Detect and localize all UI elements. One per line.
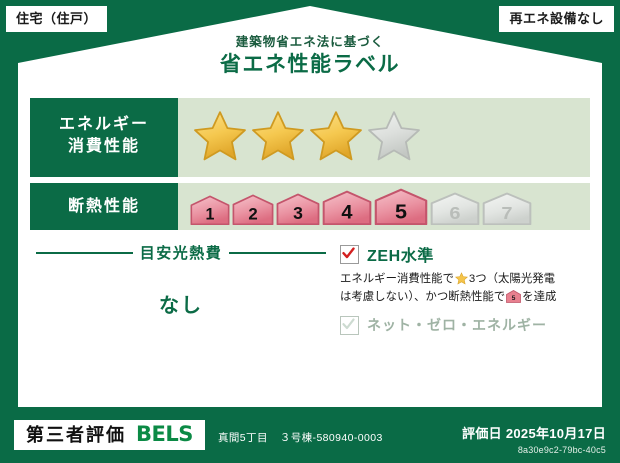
insulation-level-inactive: 6 [430, 192, 480, 225]
energy-label-line2: 消費性能 [68, 136, 140, 158]
bels-chip: 第三者評価 BELS [14, 420, 205, 450]
zeh-header: ZEH水準 [340, 242, 588, 266]
bels-logo: BELS [136, 424, 193, 445]
lower-section: 目安光熱費 なし ZEH水準 エ [30, 236, 590, 335]
star-rating [192, 109, 422, 163]
evaluation-hash: 8a30e9c2-79bc-40c5 [462, 445, 606, 455]
utility-cost-title: 目安光熱費 [140, 242, 223, 263]
energy-performance-value [178, 94, 590, 177]
zeh-desc-part2: 3つ（太陽光発電 [469, 273, 555, 285]
star-icon-filled [192, 109, 248, 163]
evaluation-date-value: 2025年10月17日 [506, 426, 606, 441]
insulation-performance-value: 1234567 [178, 183, 590, 230]
header-title: 省エネ性能ラベル [18, 52, 602, 78]
building-type-label: 住宅（住戸） [16, 11, 97, 26]
cost-rule-right [229, 252, 326, 254]
insulation-performance-label: 断熱性能 [30, 183, 178, 230]
third-party-label: 第三者評価 [26, 426, 126, 444]
svg-text:5: 5 [512, 295, 516, 302]
star-icon-inline [455, 272, 468, 285]
star-icon-filled [250, 109, 306, 163]
insulation-label-line1: 断熱性能 [68, 196, 140, 218]
insulation-level-number: 3 [293, 203, 303, 223]
utility-cost-header: 目安光熱費 [30, 242, 332, 263]
utility-cost-column: 目安光熱費 なし [30, 236, 332, 335]
check-icon-faded [342, 318, 355, 331]
insulation-level-active: 3 [276, 193, 320, 225]
insulation-performance-row: 断熱性能 1234567 [30, 183, 590, 230]
label-inner: エネルギー 消費性能 断熱性能 1234567 [30, 94, 590, 403]
cost-rule-left [36, 252, 133, 254]
insulation-level-number: 1 [206, 205, 215, 223]
energy-performance-label: エネルギー 消費性能 [30, 94, 178, 177]
evaluation-info: 評価日 2025年10月17日 8a30e9c2-79bc-40c5 [462, 423, 606, 455]
energy-performance-row: エネルギー 消費性能 [30, 94, 590, 177]
insulation-level-number: 4 [341, 202, 352, 223]
property-identifier: 真間5丁目３号棟-580940-0003 [218, 430, 383, 445]
property-address: 真間5丁目 [218, 432, 268, 444]
building-type-tag: 住宅（住戸） [6, 6, 107, 32]
star-icon-empty [366, 109, 422, 163]
insulation-level-inactive: 7 [482, 192, 532, 225]
energy-label-line1: エネルギー [59, 114, 149, 136]
check-icon [342, 247, 355, 260]
evaluation-date-label: 評価日 [462, 426, 502, 441]
label-house: エネルギー 消費性能 断熱性能 1234567 [18, 6, 602, 407]
property-building: ３号棟-580940-0003 [280, 432, 383, 444]
zeh-desc-part3: は考慮しない）、かつ断熱性能で [340, 291, 505, 303]
header-subtitle: 建築物省エネ法に基づく [18, 36, 602, 50]
net-zero-energy-checkbox[interactable] [340, 316, 359, 335]
net-zero-energy-label: ネット・ゼロ・エネルギー [367, 315, 547, 335]
footer-bar: 第三者評価 BELS 真間5丁目３号棟-580940-0003 評価日 2025… [0, 411, 620, 463]
insulation-level-scale: 1234567 [190, 188, 532, 225]
insulation-level-active: 5 [374, 188, 428, 225]
insulation-level-number: 7 [501, 204, 512, 224]
insulation-level-number: 5 [395, 201, 407, 223]
insulation-level-active: 4 [322, 190, 372, 225]
label-body: エネルギー 消費性能 断熱性能 1234567 [18, 94, 602, 407]
renewable-label: 再エネ設備なし [509, 11, 604, 26]
insulation-level-number: 6 [449, 204, 460, 224]
insulation-level-active: 2 [232, 194, 274, 225]
zeh-description: エネルギー消費性能で3つ（太陽光発電は考慮しない）、かつ断熱性能で5を達成 [340, 271, 588, 306]
roof-title-block: 建築物省エネ法に基づく 省エネ性能ラベル [18, 36, 602, 78]
zeh-desc-part4: を達成 [522, 291, 556, 303]
zeh-column: ZEH水準 エネルギー消費性能で3つ（太陽光発電は考慮しない）、かつ断熱性能で5… [332, 236, 590, 335]
renewable-tag: 再エネ設備なし [499, 6, 614, 32]
zeh-checkbox[interactable] [340, 245, 359, 264]
zeh-desc-part1: エネルギー消費性能で [340, 273, 454, 285]
insulation-level-active: 1 [190, 195, 230, 225]
zeh-title: ZEH水準 [367, 242, 434, 266]
evaluation-date: 評価日 2025年10月17日 [462, 423, 606, 442]
insulation-level-number: 2 [248, 204, 257, 223]
net-zero-energy-row: ネット・ゼロ・エネルギー [340, 315, 588, 335]
insulation-badge-icon-inline: 5 [506, 290, 521, 303]
star-icon-filled [308, 109, 364, 163]
utility-cost-value: なし [30, 289, 332, 318]
